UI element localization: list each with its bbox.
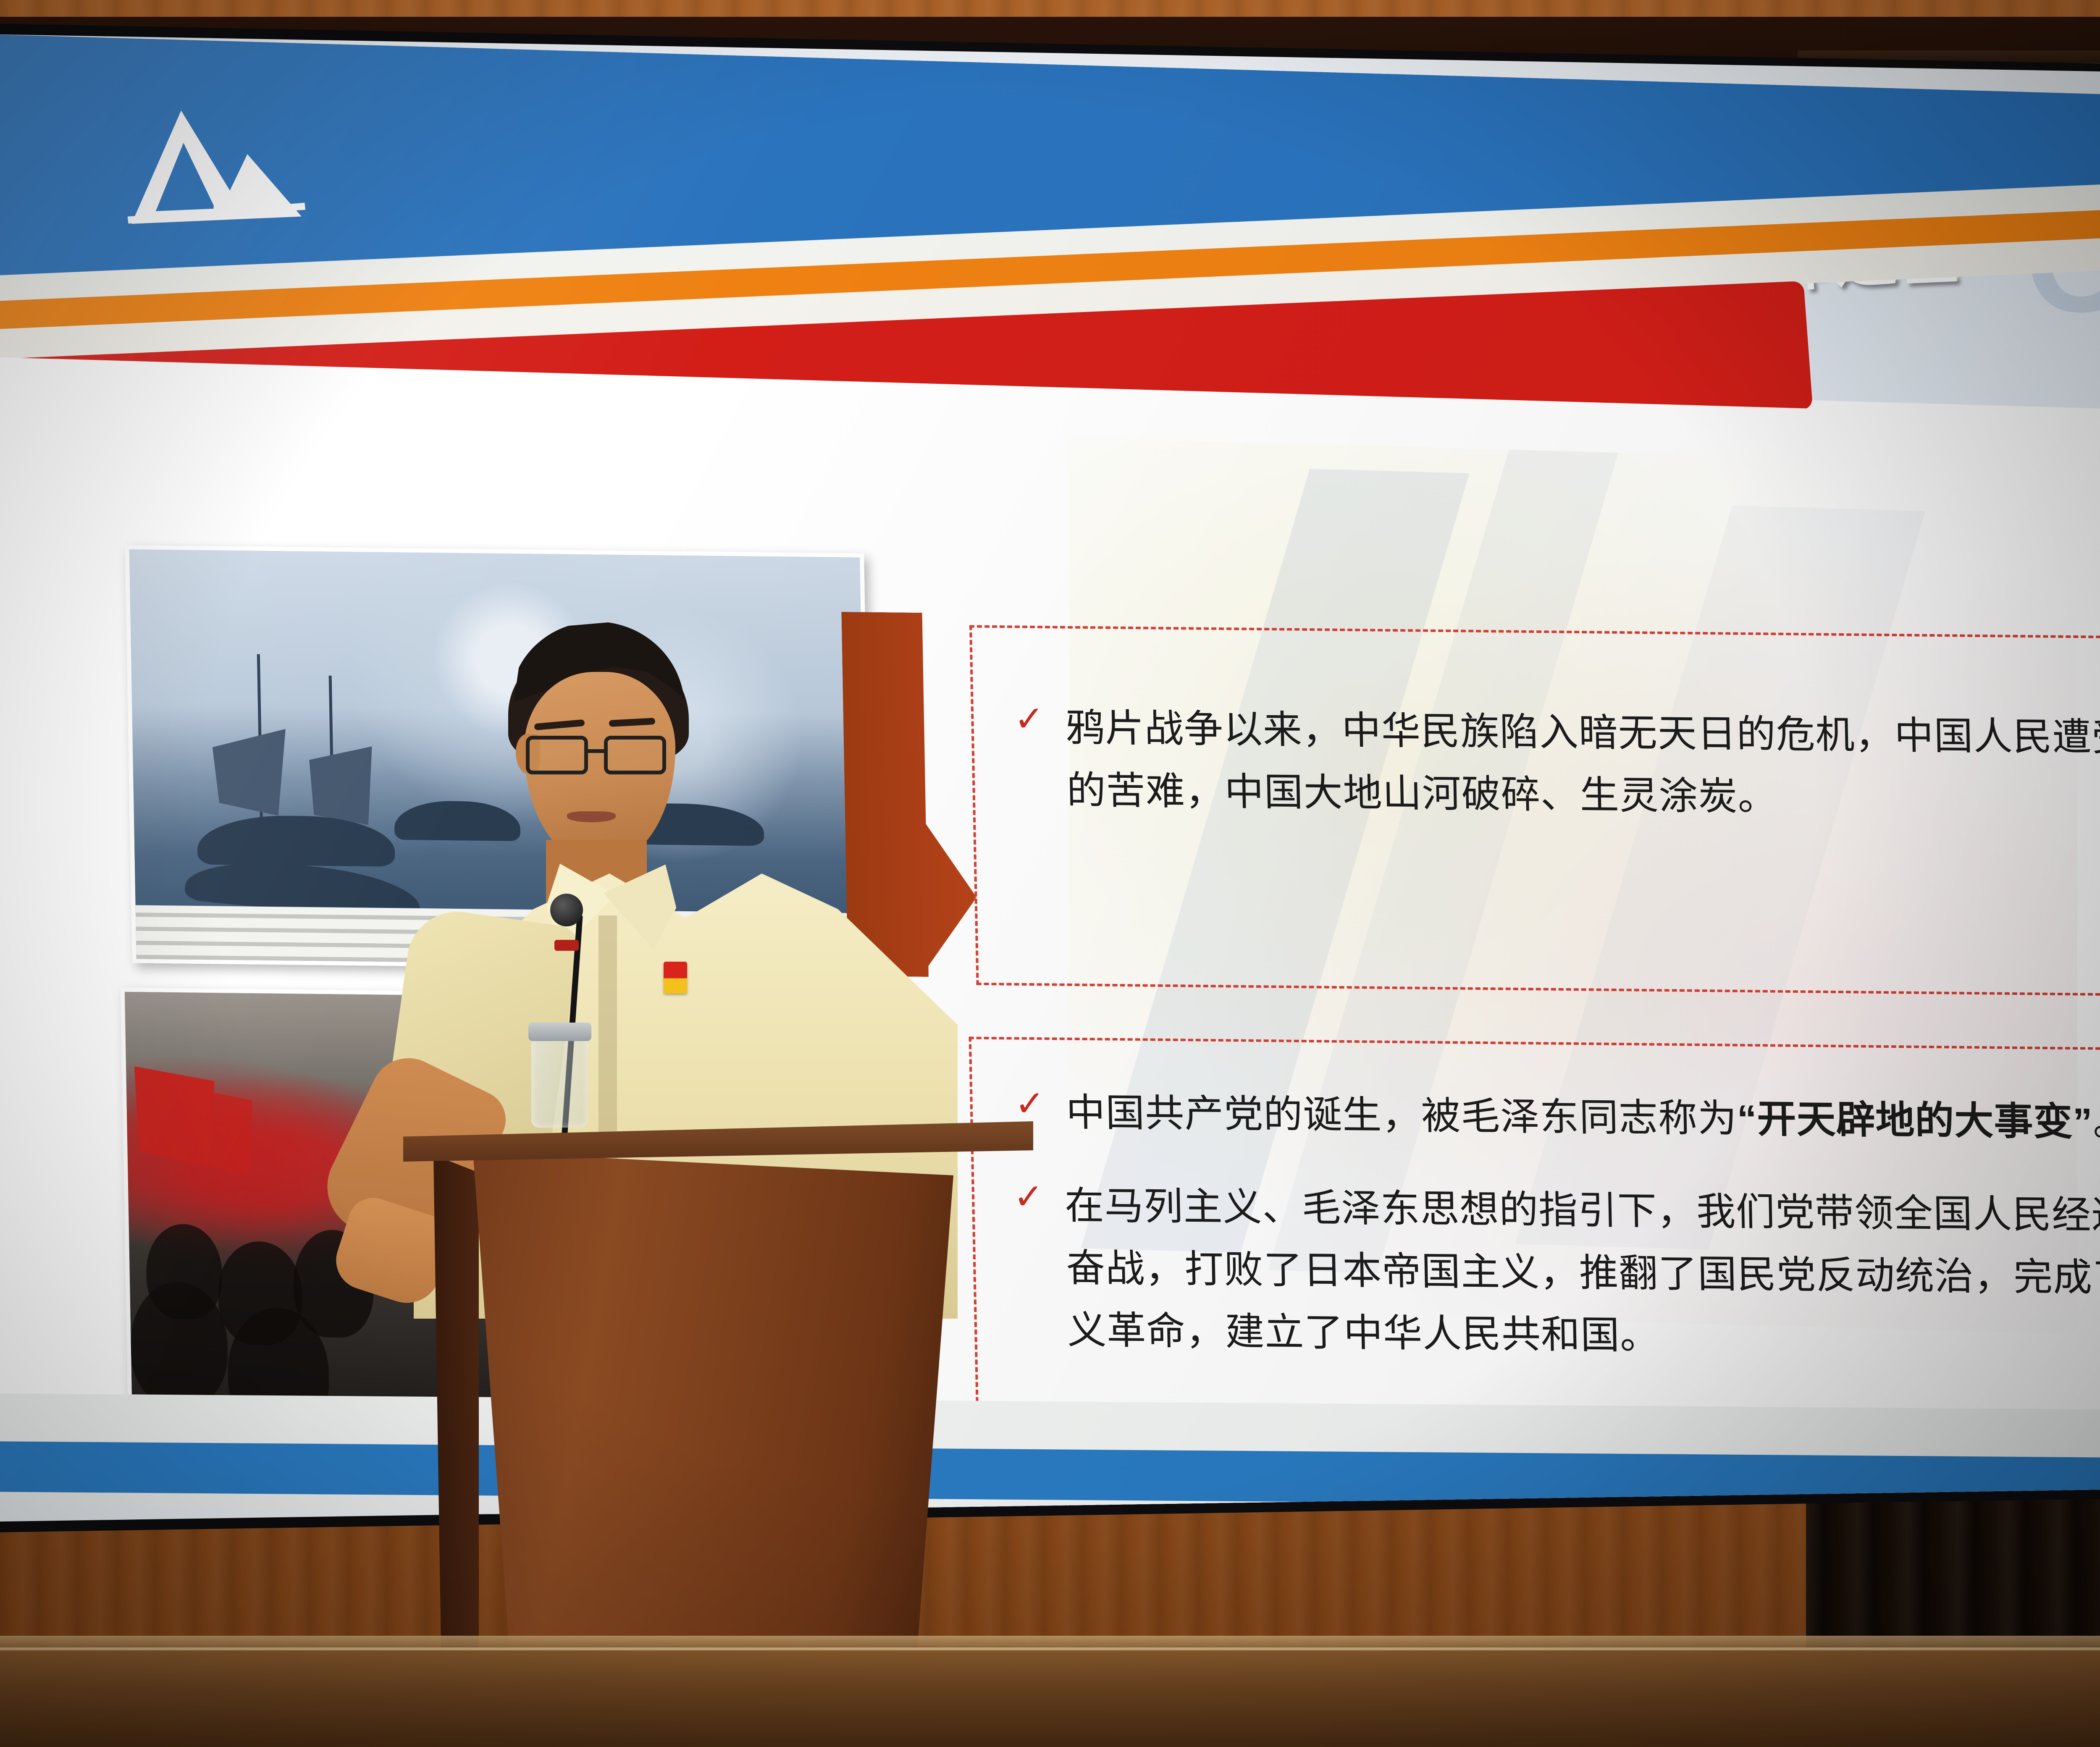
bullet-text-2-lead: 中国共产党的诞生，被毛泽东同志称为	[1066, 1091, 1738, 1140]
check-marker-icon: ✓	[1014, 701, 1045, 737]
microphone-indicator	[554, 940, 579, 951]
bullet-text-2-emphasis: “开天辟地的大事变”	[1737, 1097, 2093, 1143]
bullet-item-3: ✓ 在马列主义、毛泽东思想的指引下，我们党带领全国人民经过 28 年浴血奋战，打…	[1013, 1174, 2100, 1373]
ship-sail	[309, 746, 373, 825]
bullet-text-3: 在马列主义、毛泽东思想的指引下，我们党带领全国人民经过 28 年浴血奋战，打败了…	[1064, 1175, 2100, 1373]
water-glass-lid	[528, 1023, 591, 1041]
mouth	[567, 811, 616, 822]
projection-screen: CAM CAM 一、感悟初心使命，坚定理想信念筑牢信仰之基 （一）深刻领悟“不忘…	[0, 34, 2100, 1522]
lens-right	[604, 736, 666, 774]
bullet-text-1: 鸦片战争以来，中华民族陷入暗无天日的危机，中国人民遭受前所未有的苦难，中国大地山…	[1065, 697, 2100, 833]
floor	[0, 1650, 2100, 1747]
bullet-item-1: ✓ 鸦片战争以来，中华民族陷入暗无天日的危机，中国人民遭受前所未有的苦难，中国大…	[1013, 696, 2100, 833]
podium-top-surface	[403, 1121, 1033, 1162]
eyeglasses	[526, 733, 673, 779]
water-glass	[531, 1031, 588, 1128]
party-member-badge	[664, 962, 687, 994]
lens-left	[526, 736, 588, 774]
bullet-item-2: ✓ 中国共产党的诞生，被毛泽东同志称为“开天辟地的大事变”。	[1014, 1081, 2100, 1155]
check-marker-icon: ✓	[1014, 1086, 1045, 1122]
presentation-slide: CAM CAM 一、感悟初心使命，坚定理想信念筑牢信仰之基 （一）深刻领悟“不忘…	[0, 34, 2100, 1522]
red-flag	[189, 1088, 254, 1175]
microphone-head-icon	[550, 894, 583, 926]
conference-room: CAM CAM 一、感悟初心使命，坚定理想信念筑牢信仰之基 （一）深刻领悟“不忘…	[0, 0, 2100, 1747]
projection-screen-bezel: CAM CAM 一、感悟初心使命，坚定理想信念筑牢信仰之基 （一）深刻领悟“不忘…	[0, 23, 2100, 1533]
glasses-bridge	[588, 749, 605, 753]
svg-text:CAM: CAM	[212, 194, 267, 221]
ship-sail	[212, 728, 287, 816]
bullet-text-2: 中国共产党的诞生，被毛泽东同志称为“开天辟地的大事变”。	[1066, 1081, 2100, 1154]
bullet-text-2-tail: 。	[2092, 1100, 2100, 1144]
cam-logo-icon: CAM	[118, 98, 307, 234]
